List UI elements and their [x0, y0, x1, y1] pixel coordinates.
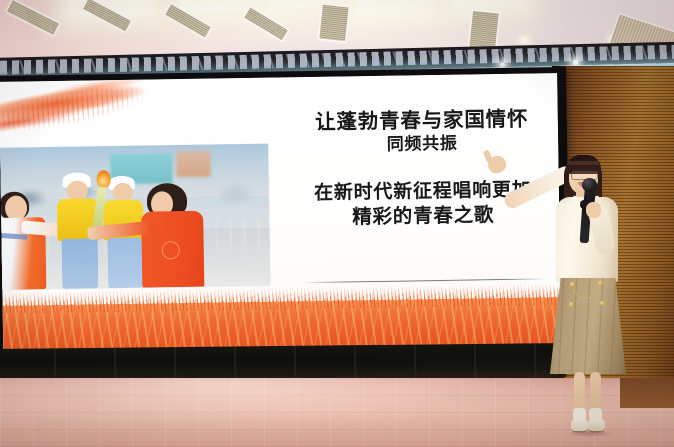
presenter-hair-band: [567, 161, 600, 165]
slide-headline-line2: 同频共振: [296, 131, 548, 158]
presenter-skirt-button: [569, 302, 574, 307]
microphone-head: [582, 178, 597, 192]
presenter-floor-shadow: [566, 430, 614, 437]
stage-presentation-photo: 让蓬勃青春与家国情怀 同频共振 在新时代新征程唱响更加 精彩的青春之歌: [0, 0, 674, 447]
ceiling-downlight: [521, 37, 528, 44]
photo-torch-flame: [96, 170, 110, 187]
slide-headline-line1: 让蓬勃青春与家国情怀: [296, 107, 548, 134]
presenter-skirt-button: [600, 301, 605, 306]
photo-person-pants: [108, 238, 143, 289]
stage-base: [0, 343, 566, 383]
presenter-mic-hand: [586, 202, 601, 218]
ceiling-vent: [318, 4, 350, 43]
presenter: [540, 150, 664, 447]
presenter-skirt-button: [570, 282, 575, 287]
truss-spotlight: [573, 60, 578, 65]
photo-person-pants: [62, 238, 99, 289]
presenter-skirt-button: [598, 281, 603, 286]
led-screen-bezel: 让蓬勃青春与家国情怀 同频共振 在新时代新征程唱响更加 精彩的青春之歌: [0, 67, 570, 364]
slide-text-block: 让蓬勃青春与家国情怀 同频共振 在新时代新征程唱响更加 精彩的青春之歌: [296, 107, 550, 230]
led-screen: 让蓬勃青春与家国情怀 同频共振 在新时代新征程唱响更加 精彩的青春之歌: [0, 73, 561, 358]
stage-base-reflection: [0, 343, 566, 383]
slide-photo-torch-relay: [0, 144, 270, 290]
